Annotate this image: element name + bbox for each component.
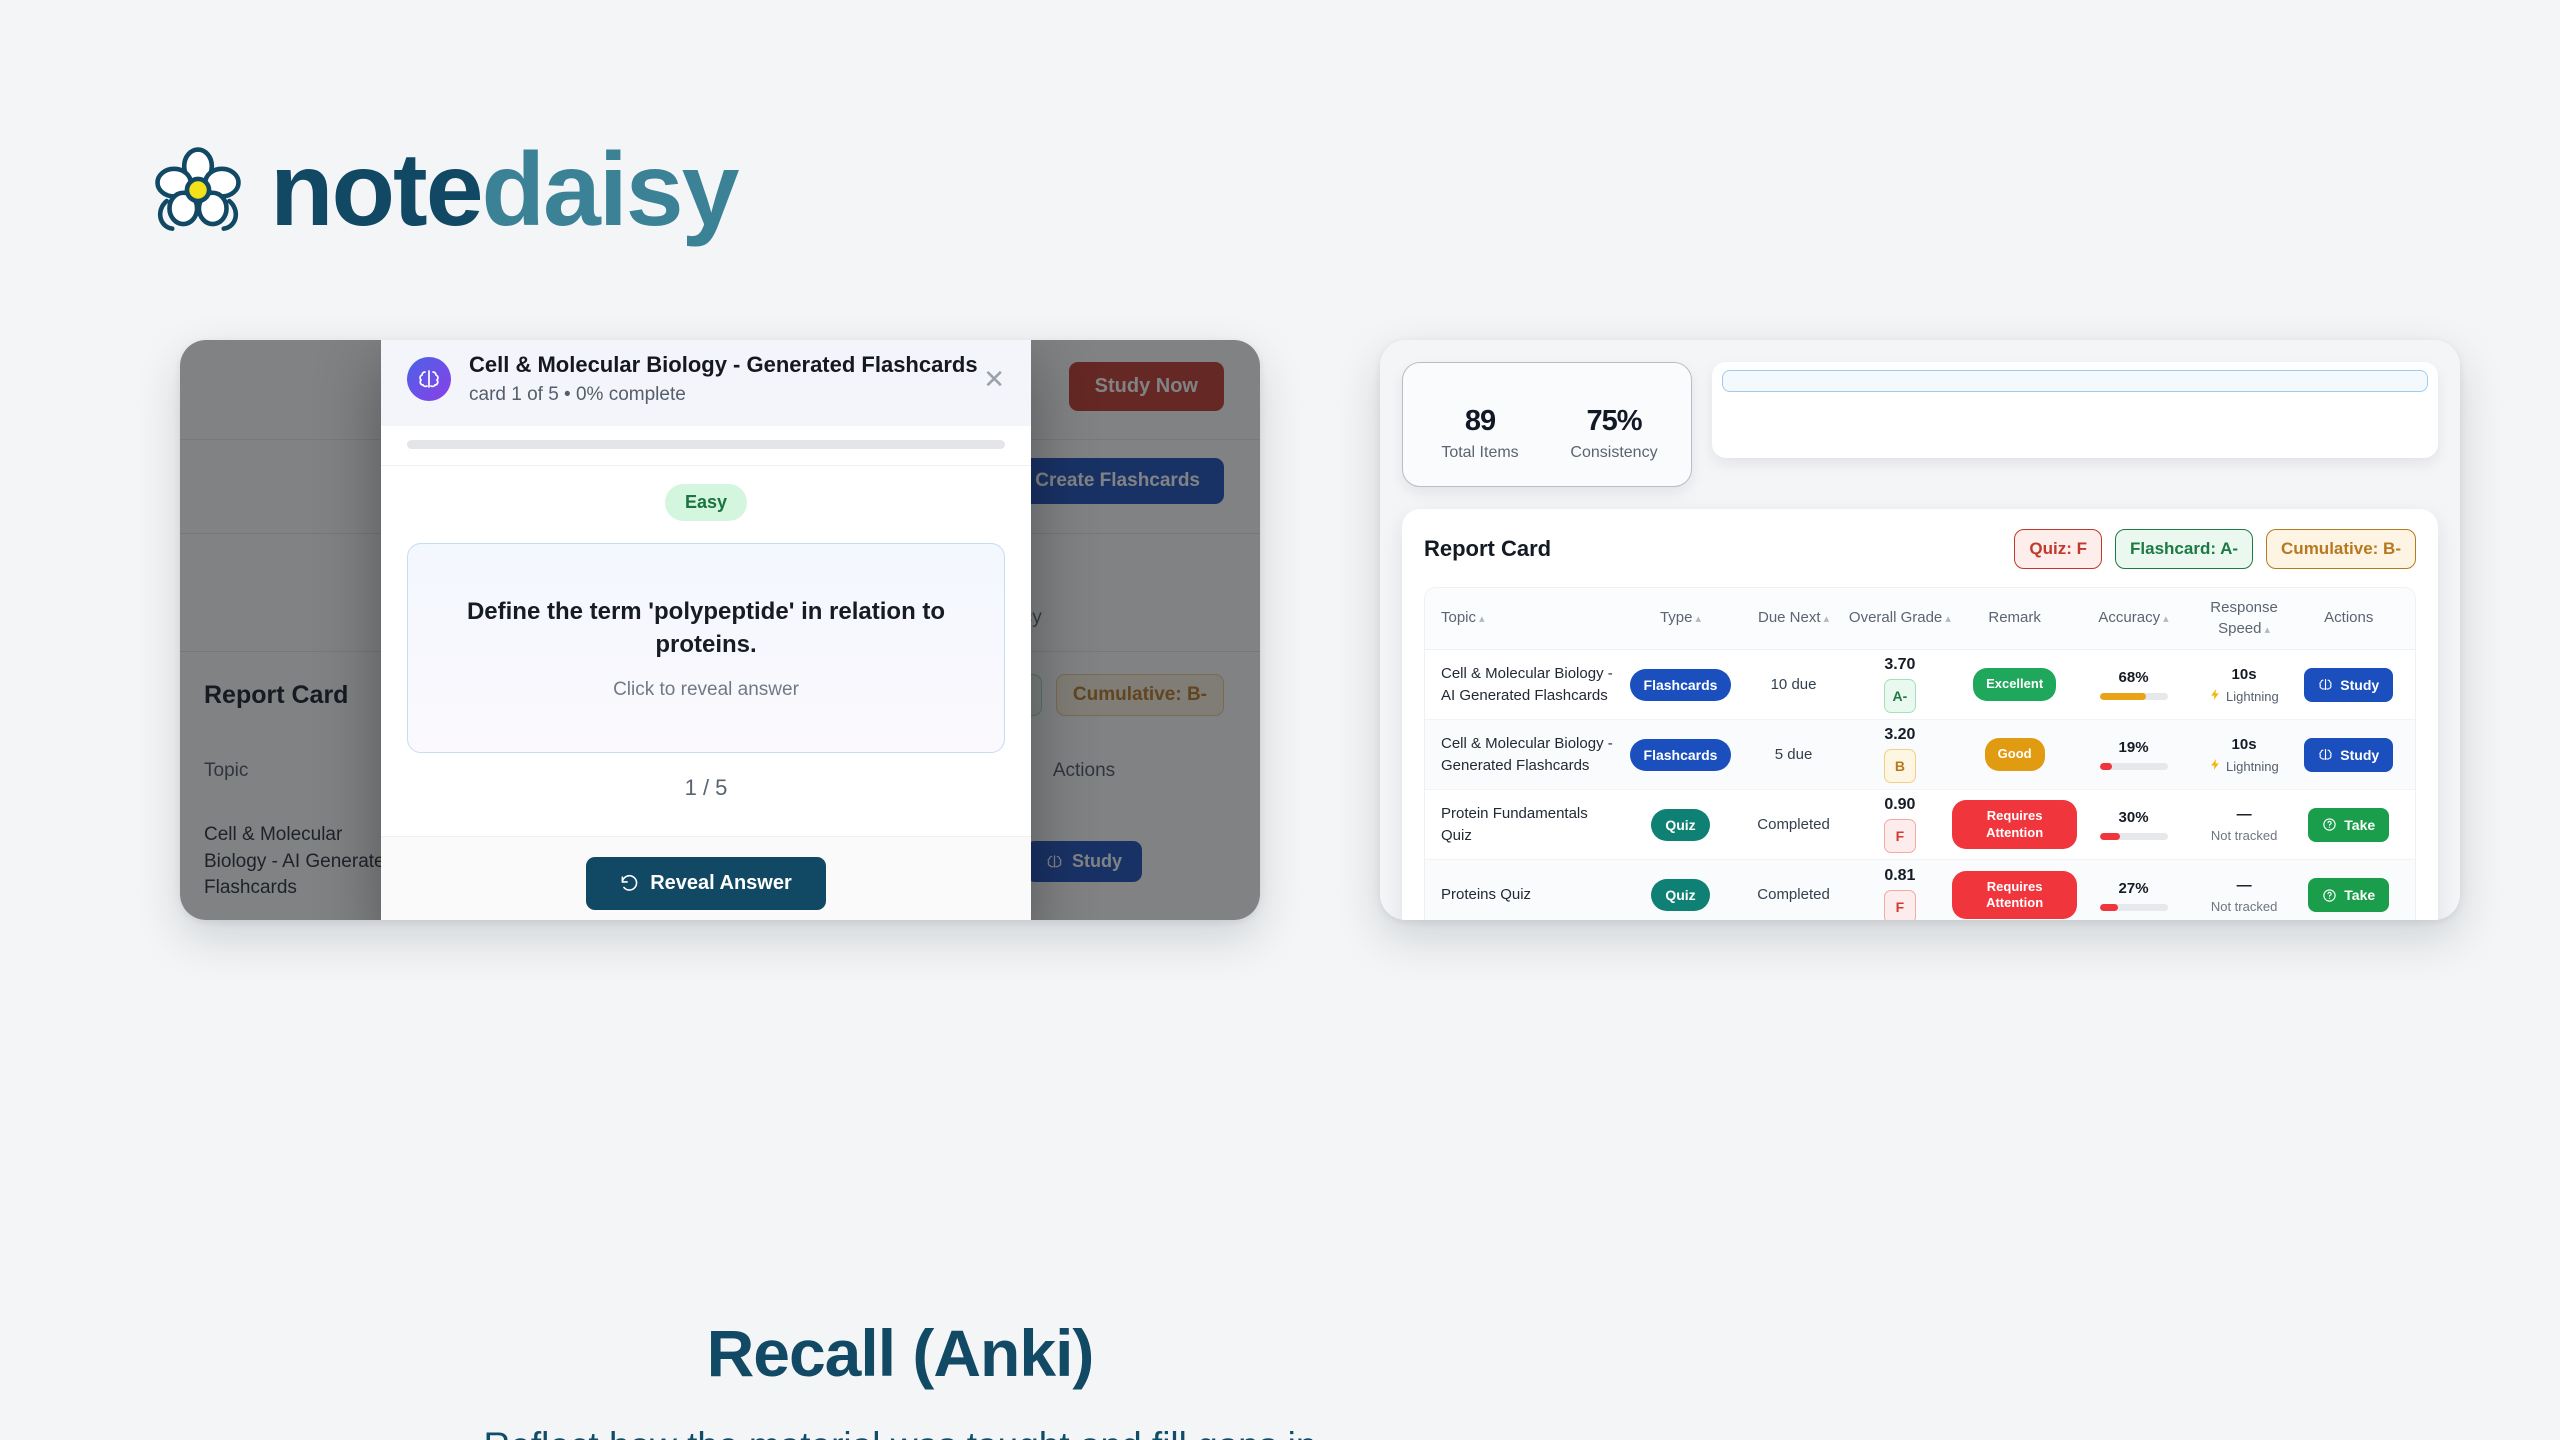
chart-card bbox=[1712, 362, 2438, 458]
cell-type: Quiz bbox=[1622, 879, 1739, 911]
cell-actions: Study bbox=[2299, 738, 2399, 772]
action-label: Study bbox=[2340, 747, 2379, 763]
grade-letter: A- bbox=[1884, 679, 1916, 713]
reveal-answer-label: Reveal Answer bbox=[650, 872, 792, 895]
grade-number: 0.90 bbox=[1848, 796, 1952, 814]
grade-letter: F bbox=[1884, 819, 1916, 853]
cell-response-speed: —Not tracked bbox=[2190, 806, 2299, 843]
col-due-next[interactable]: Due Next bbox=[1739, 608, 1848, 628]
brain-icon bbox=[407, 357, 451, 401]
cell-actions: Study bbox=[2299, 668, 2399, 702]
due-text: 5 due bbox=[1775, 746, 1813, 763]
grade-number: 0.81 bbox=[1848, 867, 1952, 885]
report-card: Report Card Quiz: F Flashcard: A- Cumula… bbox=[1402, 509, 2438, 920]
help-circle-icon bbox=[2322, 817, 2337, 832]
col-overall-grade[interactable]: Overall Grade bbox=[1848, 608, 1952, 628]
cell-type: Flashcards bbox=[1622, 669, 1739, 701]
progress-bar bbox=[407, 440, 1005, 449]
flashcard-modal: Cell & Molecular Biology - Generated Fla… bbox=[381, 340, 1031, 920]
stat-consistency: 75% Consistency bbox=[1547, 383, 1681, 462]
cell-remark: Good bbox=[1952, 738, 2078, 770]
remark-badge: Excellent bbox=[1973, 668, 2056, 700]
type-pill: Quiz bbox=[1651, 809, 1709, 841]
report-card-title: Report Card bbox=[1424, 536, 1551, 562]
cell-due-next: Completed bbox=[1739, 886, 1848, 904]
cell-accuracy: 19% bbox=[2077, 739, 2189, 770]
cell-due-next: 5 due bbox=[1739, 746, 1848, 764]
type-pill: Flashcards bbox=[1630, 669, 1732, 701]
take-button[interactable]: Take bbox=[2308, 808, 2389, 842]
recall-column: Low Pass (Minimal) Course Cumulative Gra… bbox=[180, 340, 1260, 920]
modal-body: Easy Define the term 'polypeptide' in re… bbox=[381, 466, 1031, 836]
cell-overall-grade: 3.70A- bbox=[1848, 656, 1952, 713]
question-card[interactable]: Define the term 'polypeptide' in relatio… bbox=[407, 543, 1005, 753]
cell-due-next: Completed bbox=[1739, 816, 1848, 834]
stat-value: 89 bbox=[1413, 405, 1547, 438]
table-row: Proteins QuizQuizCompleted0.81FRequires … bbox=[1425, 860, 2415, 920]
brand-logo: notedaisy bbox=[152, 138, 737, 242]
col-topic[interactable]: Topic bbox=[1441, 608, 1622, 628]
accuracy-bar bbox=[2100, 904, 2168, 911]
modal-title: Cell & Molecular Biology - Generated Fla… bbox=[469, 352, 965, 378]
report-table: Topic Type Due Next Overall Grade Remark… bbox=[1424, 587, 2416, 920]
grade-letter: B bbox=[1884, 749, 1916, 783]
accuracy-value: 19% bbox=[2077, 739, 2189, 756]
cell-accuracy: 68% bbox=[2077, 669, 2189, 700]
badge-quiz-grade[interactable]: Quiz: F bbox=[2014, 529, 2102, 569]
cell-response-speed: —Not tracked bbox=[2190, 877, 2299, 914]
cell-actions: Take bbox=[2299, 808, 2399, 842]
brain-icon bbox=[2318, 747, 2333, 762]
help-circle-icon bbox=[2322, 888, 2337, 903]
cell-accuracy: 30% bbox=[2077, 809, 2189, 840]
speed-sub: Not tracked bbox=[2190, 899, 2299, 914]
col-actions: Actions bbox=[2299, 608, 2399, 628]
type-pill: Flashcards bbox=[1630, 739, 1732, 771]
report-card-header: Report Card Quiz: F Flashcard: A- Cumula… bbox=[1424, 529, 2416, 569]
cell-topic: Cell & Molecular Biology - Generated Fla… bbox=[1441, 733, 1622, 777]
cell-accuracy: 27% bbox=[2077, 880, 2189, 911]
stat-label: Consistency bbox=[1547, 444, 1681, 462]
close-icon[interactable]: ✕ bbox=[983, 366, 1005, 392]
card-counter: 1 / 5 bbox=[685, 775, 728, 801]
due-text: 10 due bbox=[1771, 676, 1817, 693]
stat-value: 75% bbox=[1547, 405, 1681, 438]
type-pill: Quiz bbox=[1651, 879, 1709, 911]
due-text: Completed bbox=[1757, 886, 1830, 903]
review-screenshot: 89 Total Items 75% Consistency bbox=[1380, 340, 2460, 920]
cell-remark: Requires Attention bbox=[1952, 871, 2078, 920]
topic-text: Cell & Molecular Biology - AI Generated … bbox=[1441, 663, 1622, 707]
recall-heading: Recall (Anki) bbox=[360, 1315, 1440, 1391]
action-label: Study bbox=[2340, 677, 2379, 693]
remark-badge: Good bbox=[1985, 738, 2045, 770]
chart-strip bbox=[1722, 370, 2428, 392]
take-button[interactable]: Take bbox=[2308, 878, 2389, 912]
col-response-speed[interactable]: Response Speed bbox=[2190, 598, 2299, 639]
table-header-row: Topic Type Due Next Overall Grade Remark… bbox=[1425, 588, 2415, 650]
cell-overall-grade: 0.90F bbox=[1848, 796, 1952, 853]
study-button[interactable]: Study bbox=[2304, 668, 2393, 702]
question-text: Define the term 'polypeptide' in relatio… bbox=[446, 595, 966, 661]
speed-value: 10s bbox=[2190, 736, 2299, 753]
speed-sub: Not tracked bbox=[2190, 828, 2299, 843]
remark-badge: Requires Attention bbox=[1952, 800, 2078, 849]
action-label: Take bbox=[2344, 817, 2375, 833]
speed-value: — bbox=[2190, 877, 2299, 894]
col-remark: Remark bbox=[1952, 608, 2078, 628]
speed-value: — bbox=[2190, 806, 2299, 823]
dashboard-top-row: 89 Total Items 75% Consistency bbox=[1402, 362, 2438, 487]
speed-value: 10s bbox=[2190, 666, 2299, 683]
badge-cumulative-grade[interactable]: Cumulative: B- bbox=[2266, 529, 2416, 569]
remark-badge: Requires Attention bbox=[1952, 871, 2078, 920]
cell-overall-grade: 0.81F bbox=[1848, 867, 1952, 921]
cell-topic: Cell & Molecular Biology - AI Generated … bbox=[1441, 663, 1622, 707]
accuracy-bar bbox=[2100, 693, 2168, 700]
topic-text: Cell & Molecular Biology - Generated Fla… bbox=[1441, 733, 1622, 777]
table-row: Cell & Molecular Biology - AI Generated … bbox=[1425, 650, 2415, 720]
accuracy-value: 27% bbox=[2077, 880, 2189, 897]
brain-icon bbox=[2318, 677, 2333, 692]
modal-titles: Cell & Molecular Biology - Generated Fla… bbox=[469, 352, 965, 406]
topic-text: Proteins Quiz bbox=[1441, 884, 1622, 906]
col-type[interactable]: Type bbox=[1622, 608, 1739, 628]
cell-response-speed: 10s Lightning bbox=[2190, 666, 2299, 704]
stat-label: Total Items bbox=[1413, 444, 1547, 462]
brand-name-part2: daisy bbox=[482, 132, 738, 248]
cell-response-speed: 10s Lightning bbox=[2190, 736, 2299, 774]
cell-actions: Take bbox=[2299, 878, 2399, 912]
recall-caption: Recall (Anki) Reflect how the material w… bbox=[360, 1315, 1440, 1440]
lightning-icon bbox=[2209, 688, 2222, 701]
review-dashboard: 89 Total Items 75% Consistency bbox=[1380, 340, 2460, 920]
cell-topic: Protein Fundamentals Quiz bbox=[1441, 803, 1622, 847]
review-column: 89 Total Items 75% Consistency bbox=[1380, 340, 2460, 920]
stats-card: 89 Total Items 75% Consistency bbox=[1402, 362, 1692, 487]
table-body: Cell & Molecular Biology - AI Generated … bbox=[1425, 650, 2415, 920]
table-row: Protein Fundamentals QuizQuizCompleted0.… bbox=[1425, 790, 2415, 860]
accuracy-bar bbox=[2100, 763, 2168, 770]
modal-header: Cell & Molecular Biology - Generated Fla… bbox=[381, 340, 1031, 426]
topic-text: Protein Fundamentals Quiz bbox=[1441, 803, 1622, 847]
cell-type: Quiz bbox=[1622, 809, 1739, 841]
accuracy-bar bbox=[2100, 833, 2168, 840]
accuracy-value: 68% bbox=[2077, 669, 2189, 686]
stat-total-items: 89 Total Items bbox=[1413, 383, 1547, 462]
marketing-page: notedaisy Low Pass (Minimal) Course Cumu… bbox=[0, 0, 2560, 1440]
reveal-hint: Click to reveal answer bbox=[613, 679, 799, 701]
speed-sub: Lightning bbox=[2190, 758, 2299, 774]
difficulty-badge: Easy bbox=[665, 484, 747, 521]
brand-name-part1: note bbox=[270, 132, 482, 248]
table-row: Cell & Molecular Biology - Generated Fla… bbox=[1425, 720, 2415, 790]
cell-remark: Excellent bbox=[1952, 668, 2078, 700]
recall-body: Reflect how the material was taught and … bbox=[360, 1421, 1440, 1440]
action-label: Take bbox=[2344, 887, 2375, 903]
accuracy-value: 30% bbox=[2077, 809, 2189, 826]
cell-remark: Requires Attention bbox=[1952, 800, 2078, 849]
modal-subtitle: card 1 of 5 • 0% complete bbox=[469, 384, 965, 406]
cell-due-next: 10 due bbox=[1739, 676, 1848, 694]
modal-progress-wrap bbox=[381, 426, 1031, 466]
grade-badges: Quiz: F Flashcard: A- Cumulative: B- bbox=[2014, 529, 2416, 569]
speed-sub: Lightning bbox=[2190, 688, 2299, 704]
badge-flashcard-grade[interactable]: Flashcard: A- bbox=[2115, 529, 2253, 569]
cell-type: Flashcards bbox=[1622, 739, 1739, 771]
brand-wordmark: notedaisy bbox=[270, 138, 737, 242]
rotate-ccw-icon bbox=[620, 874, 639, 893]
daisy-flower-icon bbox=[152, 144, 244, 236]
grade-number: 3.70 bbox=[1848, 656, 1952, 674]
study-button[interactable]: Study bbox=[2304, 738, 2393, 772]
grade-letter: F bbox=[1884, 890, 1916, 921]
due-text: Completed bbox=[1757, 816, 1830, 833]
recall-screenshot: Low Pass (Minimal) Course Cumulative Gra… bbox=[180, 340, 1260, 920]
grade-number: 3.20 bbox=[1848, 726, 1952, 744]
cell-topic: Proteins Quiz bbox=[1441, 884, 1622, 906]
col-accuracy[interactable]: Accuracy bbox=[2077, 608, 2189, 628]
lightning-icon bbox=[2209, 758, 2222, 771]
cell-overall-grade: 3.20B bbox=[1848, 726, 1952, 783]
modal-footer: Reveal Answer bbox=[381, 836, 1031, 920]
reveal-answer-button[interactable]: Reveal Answer bbox=[586, 857, 826, 910]
